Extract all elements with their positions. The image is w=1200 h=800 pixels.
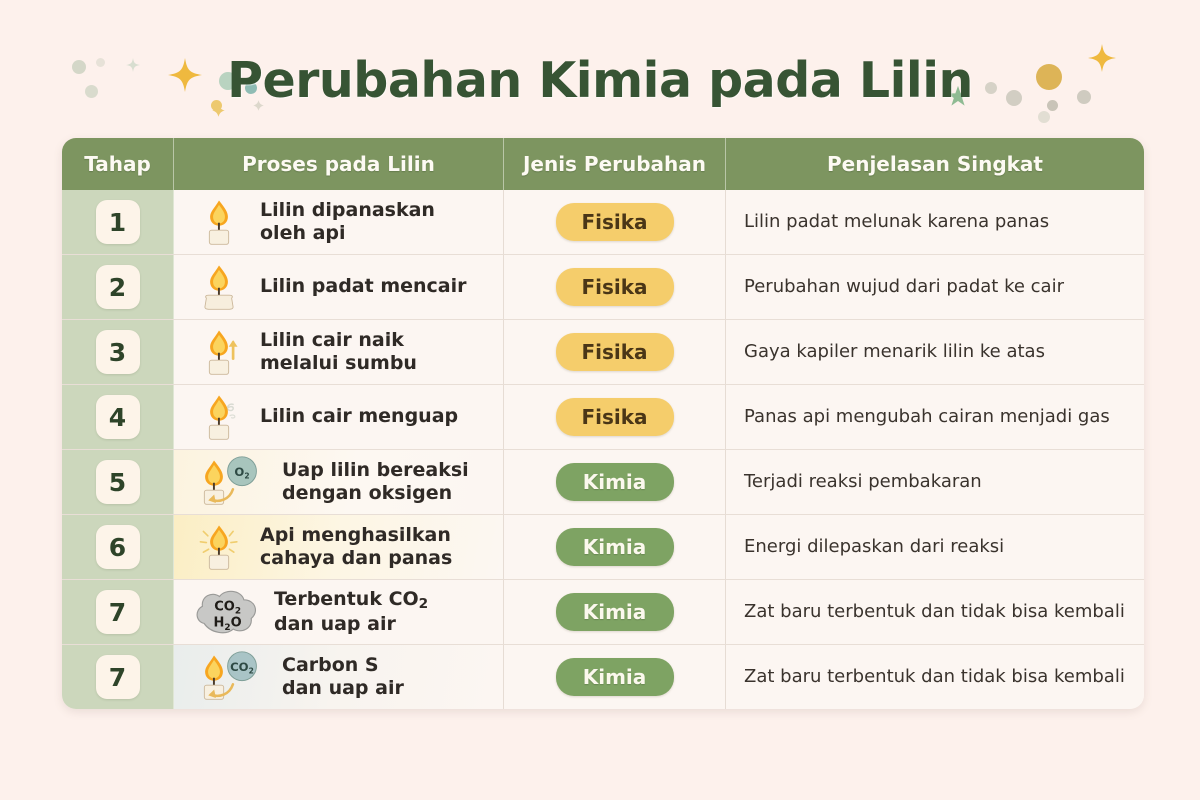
process-label: Lilin padat mencair	[260, 275, 467, 298]
step-number: 1	[96, 200, 140, 244]
column-header-proses: Proses pada Lilin	[174, 138, 504, 190]
process-cell: Lilin padat mencair	[174, 255, 504, 319]
process-cell: Lilin cair menguap	[174, 385, 504, 449]
process-cell: Api menghasilkancahaya dan panas	[174, 515, 504, 579]
dot-gray-8	[1038, 111, 1050, 123]
explanation-cell: Zat baru terbentuk dan tidak bisa kembal…	[726, 645, 1144, 709]
change-type-cell: Fisika	[504, 255, 726, 319]
table-row: 4 Lilin cair menguapFisikaPanas api meng…	[62, 384, 1144, 449]
change-type-badge: Fisika	[556, 398, 674, 436]
page-title-wrap: Perubahan Kimia pada Lilin	[0, 52, 1200, 109]
step-number: 5	[96, 460, 140, 504]
changes-table: Tahap Proses pada Lilin Jenis Perubahan …	[62, 138, 1144, 709]
explanation-cell: Lilin padat melunak karena panas	[726, 190, 1144, 254]
table-row: 6 Api menghasilkancahaya dan panasKimiaE…	[62, 514, 1144, 579]
step-cell: 2	[62, 255, 174, 319]
step-cell: 7	[62, 580, 174, 644]
explanation-cell: Gaya kapiler menarik lilin ke atas	[726, 320, 1144, 384]
process-cell: Lilin dipanaskanoleh api	[174, 190, 504, 254]
explanation-cell: Panas api mengubah cairan menjadi gas	[726, 385, 1144, 449]
step-cell: 5	[62, 450, 174, 514]
candle-co2-bubble-icon: CO2	[188, 651, 272, 703]
step-number: 3	[96, 330, 140, 374]
column-header-penjelasan: Penjelasan Singkat	[726, 138, 1144, 190]
table-row: 1 Lilin dipanaskanoleh apiFisikaLilin pa…	[62, 190, 1144, 254]
explanation-cell: Terjadi reaksi pembakaran	[726, 450, 1144, 514]
page-title: Perubahan Kimia pada Lilin	[0, 52, 1200, 109]
change-type-badge: Kimia	[556, 463, 674, 501]
candle-melting-icon	[188, 261, 250, 313]
column-header-jenis: Jenis Perubahan	[504, 138, 726, 190]
process-cell: CO2 Carbon Sdan uap air	[174, 645, 504, 709]
step-cell: 6	[62, 515, 174, 579]
explanation-cell: Zat baru terbentuk dan tidak bisa kembal…	[726, 580, 1144, 644]
step-number: 7	[96, 655, 140, 699]
step-cell: 4	[62, 385, 174, 449]
change-type-cell: Kimia	[504, 580, 726, 644]
table-row: 2 Lilin padat mencairFisikaPerubahan wuj…	[62, 254, 1144, 319]
change-type-badge: Kimia	[556, 658, 674, 696]
process-label: Api menghasilkancahaya dan panas	[260, 524, 452, 570]
process-label: Terbentuk CO2dan uap air	[274, 588, 428, 636]
step-number: 2	[96, 265, 140, 309]
change-type-badge: Fisika	[556, 203, 674, 241]
change-type-badge: Fisika	[556, 268, 674, 306]
candle-glow-icon	[188, 521, 250, 573]
change-type-cell: Kimia	[504, 645, 726, 709]
column-header-tahap: Tahap	[62, 138, 174, 190]
process-label: Lilin cair menguap	[260, 405, 458, 428]
change-type-cell: Fisika	[504, 385, 726, 449]
process-cell: Lilin cair naikmelalui sumbu	[174, 320, 504, 384]
change-type-badge: Kimia	[556, 528, 674, 566]
change-type-badge: Kimia	[556, 593, 674, 631]
explanation-cell: Perubahan wujud dari padat ke cair	[726, 255, 1144, 319]
table-row: 5 O2 Uap lilin bereaksidengan oksigenKim…	[62, 449, 1144, 514]
step-cell: 1	[62, 190, 174, 254]
process-label: Lilin dipanaskanoleh api	[260, 199, 435, 245]
process-label: Uap lilin bereaksidengan oksigen	[282, 459, 469, 505]
process-label: Lilin cair naikmelalui sumbu	[260, 329, 417, 375]
candle-vapor-icon	[188, 391, 250, 443]
candle-icon	[188, 196, 250, 248]
table-row: 3 Lilin cair naikmelalui sumbuFisikaGaya…	[62, 319, 1144, 384]
step-number: 7	[96, 590, 140, 634]
smoke-cloud-icon: CO2 H2O	[188, 586, 264, 638]
table-body: 1 Lilin dipanaskanoleh apiFisikaLilin pa…	[62, 190, 1144, 709]
step-number: 6	[96, 525, 140, 569]
candle-oxygen-icon: O2	[188, 456, 272, 508]
process-cell: CO2 H2O Terbentuk CO2dan uap air	[174, 580, 504, 644]
table-row: 7 CO2 H2O Terbentuk CO2dan uap airKimiaZ…	[62, 579, 1144, 644]
table-header-row: Tahap Proses pada Lilin Jenis Perubahan …	[62, 138, 1144, 190]
change-type-cell: Kimia	[504, 450, 726, 514]
process-label: Carbon Sdan uap air	[282, 654, 404, 700]
step-cell: 3	[62, 320, 174, 384]
candle-up-arrow-icon	[188, 326, 250, 378]
table-row: 7 CO2 Carbon Sdan uap airKimiaZat baru t…	[62, 644, 1144, 709]
change-type-cell: Kimia	[504, 515, 726, 579]
change-type-cell: Fisika	[504, 190, 726, 254]
change-type-badge: Fisika	[556, 333, 674, 371]
change-type-cell: Fisika	[504, 320, 726, 384]
explanation-cell: Energi dilepaskan dari reaksi	[726, 515, 1144, 579]
step-cell: 7	[62, 645, 174, 709]
step-number: 4	[96, 395, 140, 439]
process-cell: O2 Uap lilin bereaksidengan oksigen	[174, 450, 504, 514]
